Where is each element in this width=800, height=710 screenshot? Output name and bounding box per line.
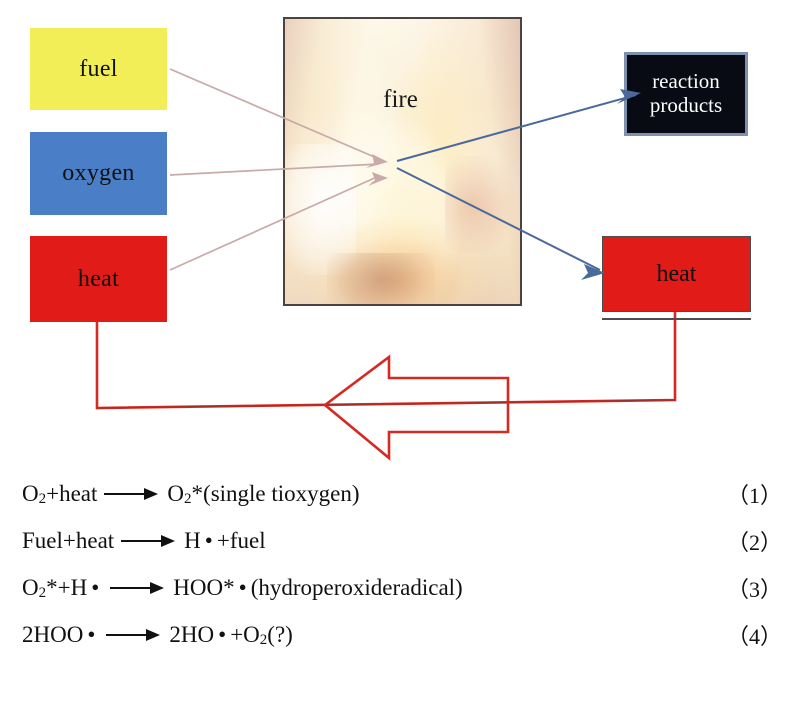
equation-3-text: O2*+H• HOO*•(hydroperoxideradical)	[22, 575, 463, 601]
equation-row: O2+heat O2*(single tioxygen) （1）	[0, 470, 800, 517]
eq1-left-a: O	[22, 481, 39, 507]
eq3-right: HOO*	[173, 575, 234, 601]
reaction-arrow-icon	[104, 488, 160, 500]
diagram-canvas: fuel oxygen heat fire reaction products …	[0, 0, 800, 710]
equation-1-text: O2+heat O2*(single tioxygen)	[22, 481, 360, 507]
radical-dot-icon: •	[214, 622, 230, 648]
equation-2-number: （2）	[727, 525, 782, 557]
equation-row: 2HOO• 2HO•+O2(?) （4）	[0, 611, 800, 658]
equation-2-text: Fuel+heat H•+fuel	[22, 528, 266, 554]
equation-row: Fuel+heat H•+fuel （2）	[0, 517, 800, 564]
eq3-left-a: O	[22, 575, 39, 601]
eq2-right-tail: +fuel	[217, 528, 266, 554]
reaction-arrow-icon	[110, 582, 166, 594]
eq4-right: 2HO	[169, 622, 214, 648]
equation-4-text: 2HOO• 2HO•+O2(?)	[22, 622, 293, 648]
reaction-arrow-icon	[106, 629, 162, 641]
eq3-right-tail: (hydroperoxideradical)	[251, 575, 463, 601]
eq1-left-b: +heat	[46, 481, 97, 507]
equation-3-number: （3）	[727, 572, 782, 604]
eq1-right-tail: *(single tioxygen)	[192, 481, 360, 507]
equation-1-number: （1）	[727, 478, 782, 510]
arrow-fire-to-products	[397, 95, 636, 161]
equation-list: O2+heat O2*(single tioxygen) （1） Fuel+he…	[0, 470, 800, 658]
eq3-left-b: *+H	[46, 575, 87, 601]
eq2-right: H	[184, 528, 201, 554]
equation-4-number: （4）	[727, 619, 782, 651]
eq4-right-suffix-b: (?)	[267, 622, 293, 648]
eq1-right: O	[167, 481, 184, 507]
radical-dot-icon: •	[235, 575, 251, 601]
reaction-arrow-icon	[121, 535, 177, 547]
output-arrowheads	[581, 89, 641, 280]
eq4-left-a: 2HOO	[22, 622, 83, 648]
radical-dot-icon: •	[87, 575, 103, 601]
radical-dot-icon: •	[83, 622, 99, 648]
arrow-fire-to-heat	[397, 168, 600, 270]
eq4-right-suffix-a: +O	[230, 622, 260, 648]
radical-dot-icon: •	[201, 528, 217, 554]
eq2-left-a: Fuel+heat	[22, 528, 114, 554]
equation-row: O2*+H• HOO*•(hydroperoxideradical) （3）	[0, 564, 800, 611]
